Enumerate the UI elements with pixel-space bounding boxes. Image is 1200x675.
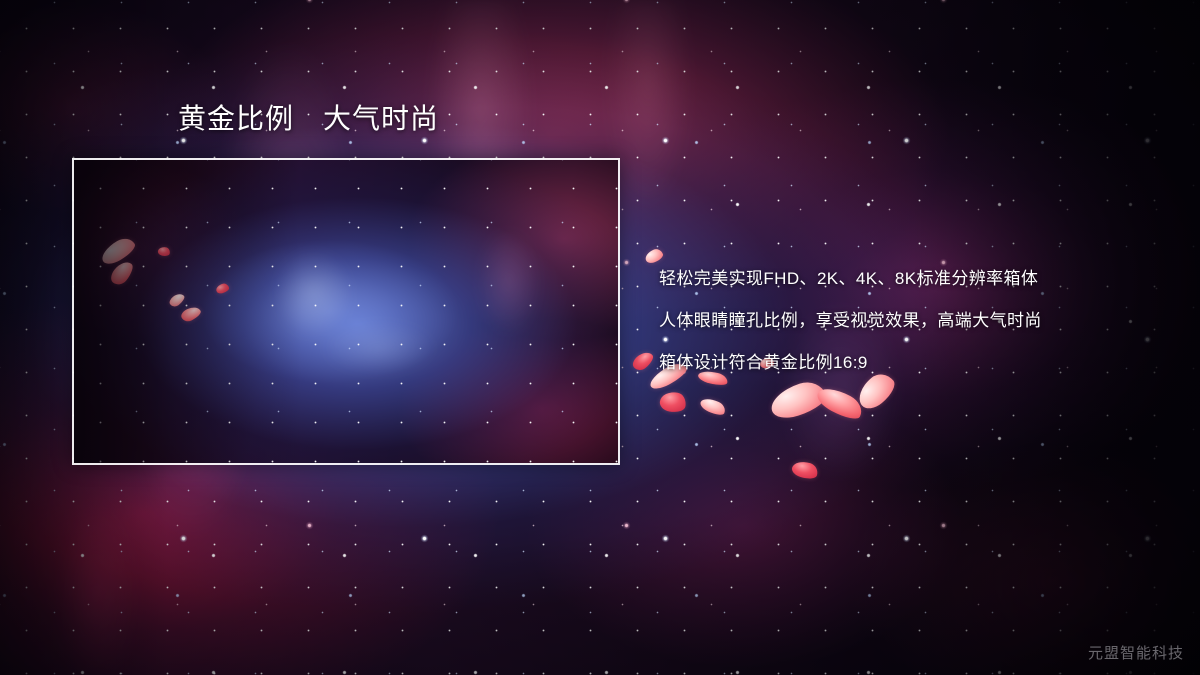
flower-petal <box>658 390 687 414</box>
watermark-brand: 元盟智能科技 <box>1088 642 1184 663</box>
display-panel-content <box>74 160 618 463</box>
slide-title: 黄金比例 大气时尚 <box>178 102 439 136</box>
flower-petal <box>698 395 727 417</box>
flower-petal <box>630 349 656 374</box>
display-panel-preview <box>72 158 620 465</box>
slide-body-copy: 轻松完美实现FHD、2K、4K、8K标准分辨率箱体 人体眼睛瞳孔比例，享受视觉效… <box>659 258 1169 384</box>
body-line-1: 轻松完美实现FHD、2K、4K、8K标准分辨率箱体 <box>659 258 1169 300</box>
body-line-3: 箱体设计符合黄金比例16:9 <box>659 342 1169 384</box>
presentation-slide: 黄金比例 大气时尚 轻松完美实现FHD、2K、4K、8K标准分辨率箱体 人体眼睛… <box>0 0 1200 675</box>
panel-shadow-overlay <box>74 160 618 463</box>
body-line-2: 人体眼睛瞳孔比例，享受视觉效果，高端大气时尚 <box>659 300 1169 342</box>
flower-petal <box>790 459 819 482</box>
